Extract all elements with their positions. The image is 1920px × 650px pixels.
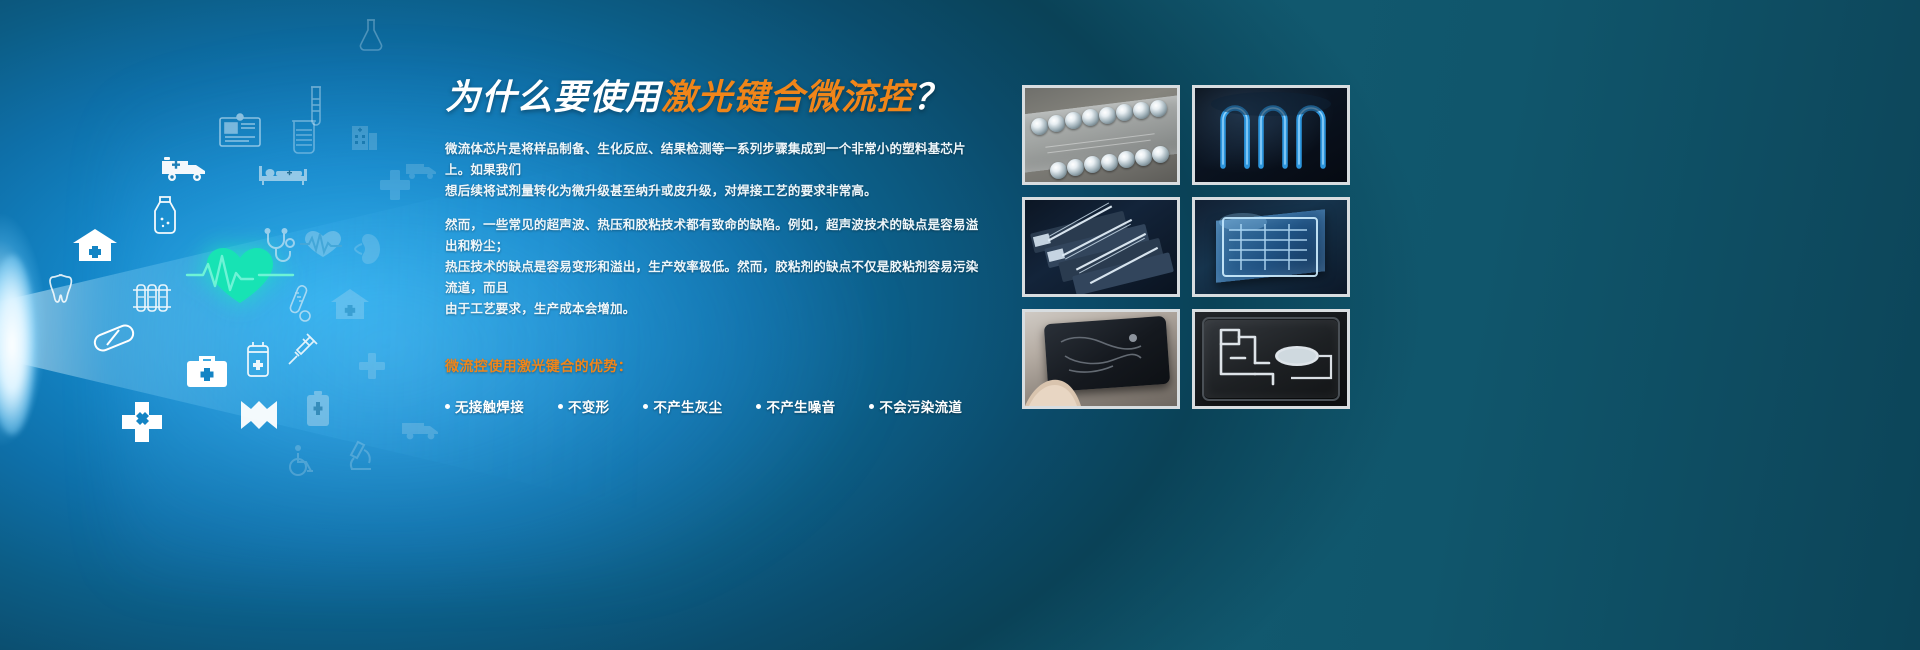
syringe-icon	[285, 330, 321, 366]
hospital-building-icon	[348, 120, 380, 152]
bullet-dot-icon	[445, 404, 450, 409]
advantages-subheading: 微流控使用激光键合的优势：	[445, 356, 990, 376]
advantage-label: 无接触焊接	[455, 396, 524, 416]
paragraph-one-line: 微流体芯片是将样品制备、生化反应、结果检测等一系列步骤集成到一个非常小的塑料基芯…	[445, 139, 990, 181]
advantages-list: 无接触焊接 不变形 不产生灰尘 不产生噪音 不会污染流道	[445, 396, 990, 416]
gallery-photo-hand-holding-cartridge[interactable]	[1022, 309, 1180, 409]
gallery-photo-serpentine-channel[interactable]	[1192, 85, 1350, 185]
banner-root: 为什么要使用激光键合微流控？ 微流体芯片是将样品制备、生化反应、结果检测等一系列…	[0, 0, 1920, 650]
cross-icon	[378, 168, 412, 202]
product-gallery	[1022, 85, 1350, 409]
paragraph-one-line: 想后续将试剂量转化为微升级甚至纳升或皮升级，对焊接工艺的要求非常高。	[445, 181, 990, 202]
medical-bag-icon	[185, 352, 229, 390]
wheelchair-icon	[285, 443, 317, 477]
advantage-item: 不产生噪音	[756, 396, 835, 416]
paragraph-two-line: 热压技术的缺点是容易变形和溢出，生产效率极低。然而，胶粘剂的缺点不仅是胶粘剂容易…	[445, 257, 990, 299]
test-tube-rack-icon	[130, 283, 174, 317]
heart-ecg-icon	[185, 235, 295, 307]
van-icon	[400, 418, 440, 442]
headline-highlight: 激光键合微流控	[661, 78, 913, 117]
advantage-label: 不会污染流道	[879, 396, 962, 416]
kidney-icon	[352, 232, 382, 266]
ambulance-icon	[160, 155, 208, 185]
advantage-item: 不产生灰尘	[643, 396, 722, 416]
cross-icon	[358, 352, 386, 380]
bullet-dot-icon	[756, 404, 761, 409]
advantage-item: 不会污染流道	[869, 396, 962, 416]
bandage-cross-icon	[238, 398, 280, 432]
advantage-label: 不产生灰尘	[653, 396, 722, 416]
gallery-photo-chip-with-wells[interactable]	[1022, 85, 1180, 185]
medicine-bottle-icon	[150, 195, 180, 235]
stethoscope-icon	[262, 228, 296, 266]
microscope-icon	[345, 438, 377, 472]
tooth-icon	[45, 272, 73, 306]
id-card-icon	[218, 112, 262, 148]
light-source-icon	[0, 255, 36, 435]
paragraph-one: 微流体芯片是将样品制备、生化反应、结果检测等一系列步骤集成到一个非常小的塑料基芯…	[445, 139, 990, 202]
headline-tail: ？	[913, 78, 949, 117]
paragraph-two-line: 然而，一些常见的超声波、热压和胶粘技术都有致命的缺陷。例如，超声波技术的缺点是容…	[445, 215, 990, 257]
advantage-label: 不变形	[568, 396, 609, 416]
advantage-item: 不变形	[558, 396, 609, 416]
hospital-bed-icon	[258, 162, 308, 186]
heartbeat-icon	[300, 228, 346, 260]
gallery-photo-black-cartridge[interactable]	[1192, 309, 1350, 409]
gallery-photo-chip-array[interactable]	[1022, 197, 1180, 297]
first-aid-cross-icon	[120, 400, 164, 444]
clinic-icon	[72, 228, 118, 262]
gallery-photo-blue-block[interactable]	[1192, 197, 1350, 297]
paragraph-two: 然而，一些常见的超声波、热压和胶粘技术都有致命的缺陷。例如，超声波技术的缺点是容…	[445, 215, 990, 320]
van-icon	[404, 160, 438, 182]
paragraph-two-line: 由于工艺要求，生产成本会增加。	[445, 299, 990, 320]
advantage-item: 无接触焊接	[445, 396, 524, 416]
beaker-icon	[290, 118, 318, 156]
thermometer-icon	[288, 283, 312, 323]
battery-icon	[305, 390, 331, 428]
advantage-label: 不产生噪音	[766, 396, 835, 416]
flask-icon	[358, 18, 384, 52]
headline-lead: 为什么要使用	[445, 78, 661, 117]
pill-capsule-icon	[92, 322, 136, 352]
bullet-dot-icon	[558, 404, 563, 409]
home-health-icon	[330, 288, 370, 320]
bullet-dot-icon	[643, 404, 648, 409]
headline: 为什么要使用激光键合微流控？	[445, 78, 990, 117]
content-column: 为什么要使用激光键合微流控？ 微流体芯片是将样品制备、生化反应、结果检测等一系列…	[445, 78, 990, 416]
iv-bag-icon	[243, 340, 273, 382]
bullet-dot-icon	[869, 404, 874, 409]
test-tube-icon	[308, 85, 324, 129]
